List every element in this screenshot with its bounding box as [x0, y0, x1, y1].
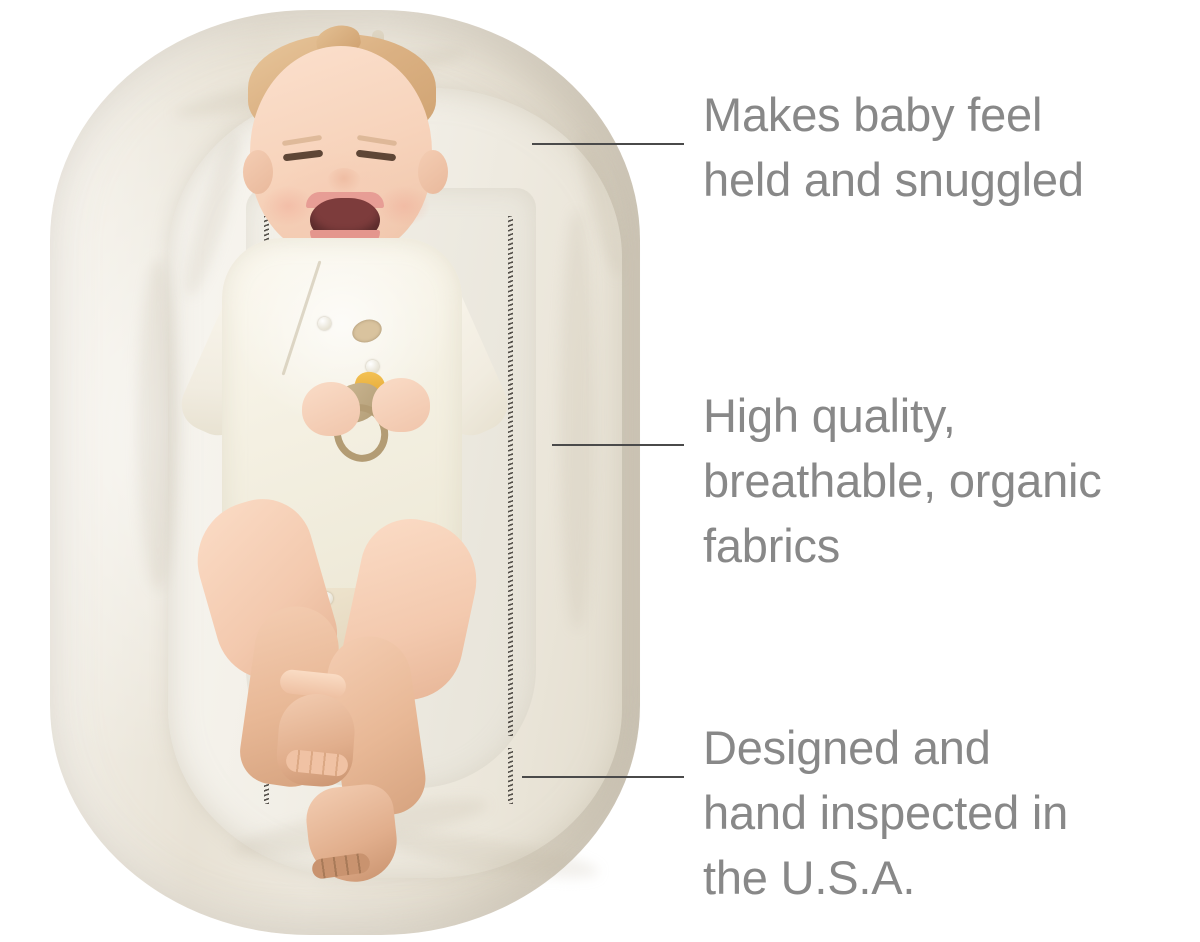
baby-hand-right — [372, 378, 430, 432]
callout-2-text: High quality, breathable, organic fabric… — [703, 383, 1173, 578]
leader-line-icon — [552, 444, 684, 446]
onesie-snap-button — [318, 317, 331, 330]
baby-ear-right — [418, 150, 448, 194]
callout-3-text: Designed and hand inspected in the U.S.A… — [703, 715, 1173, 910]
baby-cheek-right — [378, 186, 430, 226]
baby-ear-left — [243, 150, 273, 194]
feature-callout-graphic: Makes baby feel held and snuggled High q… — [0, 0, 1200, 942]
baby-nose — [327, 168, 361, 194]
leader-line-icon — [522, 776, 684, 778]
callout-1-text: Makes baby feel held and snuggled — [703, 82, 1173, 212]
product-photo — [0, 0, 700, 942]
baby-hand-left — [302, 382, 360, 436]
baby — [0, 0, 700, 942]
leader-line-icon — [532, 143, 684, 145]
